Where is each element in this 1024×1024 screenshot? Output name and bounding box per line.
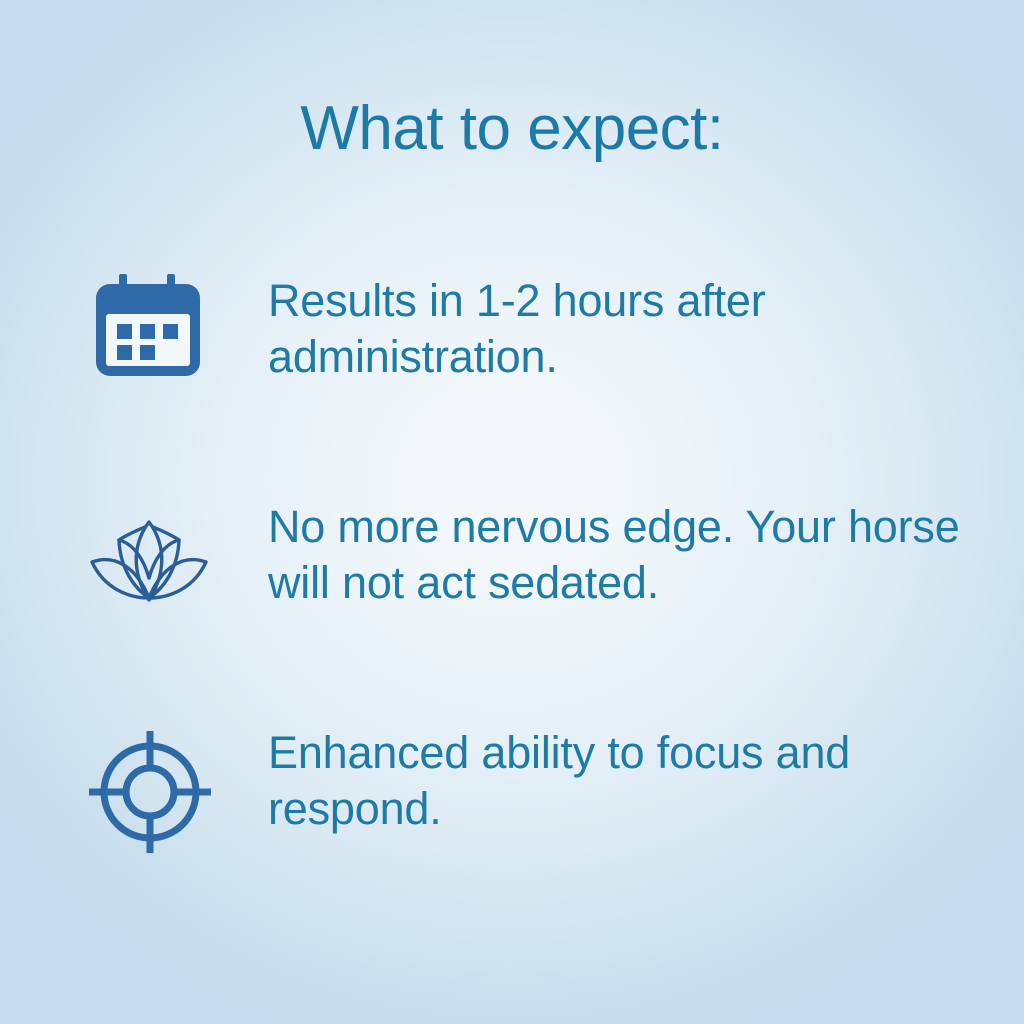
feature-text: No more nervous edge. Your horse will no… — [268, 498, 980, 611]
target-crosshair-icon — [86, 728, 214, 856]
feature-icon-cell — [80, 272, 268, 378]
what-to-expect-slide: What to expect: — [0, 0, 1024, 1024]
feature-icon-cell — [80, 724, 268, 856]
feature-icon-cell — [80, 498, 268, 606]
feature-row: Results in 1-2 hours after administratio… — [80, 272, 980, 385]
feature-row: Enhanced ability to focus and respond. — [80, 724, 980, 856]
feature-text: Results in 1-2 hours after administratio… — [268, 272, 980, 385]
calendar-icon — [94, 274, 202, 378]
feature-row: No more nervous edge. Your horse will no… — [80, 498, 980, 611]
lotus-flower-icon — [88, 514, 210, 606]
page-title: What to expect: — [0, 92, 1024, 166]
feature-text: Enhanced ability to focus and respond. — [268, 724, 980, 837]
